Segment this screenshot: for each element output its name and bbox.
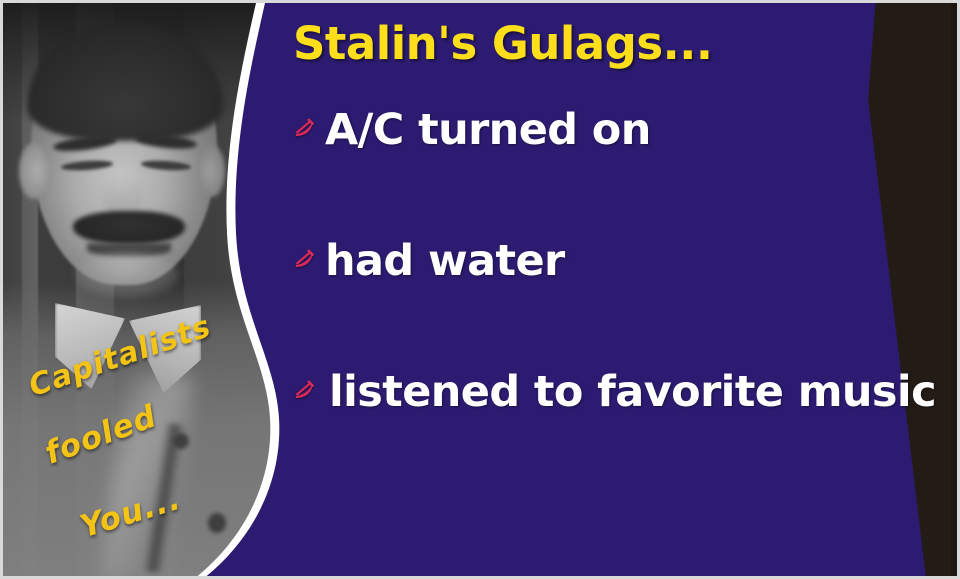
chin — [75, 253, 179, 297]
list-item-label: had water — [325, 236, 565, 286]
photo-artifact-a — [173, 433, 189, 449]
page-title: Stalin's Gulags... — [293, 17, 712, 70]
list-item-label: A/C turned on — [325, 105, 651, 155]
left-ear — [19, 143, 49, 199]
list-item: listened to favorite music — [285, 361, 925, 423]
mustache — [73, 211, 185, 245]
slide-content: Stalin's Gulags... A/C turned on — [285, 3, 957, 579]
photo-artifact-b — [208, 513, 226, 533]
stalin-portrait-photo — [3, 3, 293, 579]
hammer-and-sickle-icon — [285, 248, 325, 274]
bullet-list: A/C turned on had water — [285, 99, 925, 423]
photo-clip: Capitalists fooled You... — [3, 3, 293, 579]
list-item-label: listened to favorite music — [329, 367, 936, 417]
meme-slide: Capitalists fooled You... Stalin's Gulag… — [0, 0, 960, 579]
portrait-panel: Capitalists fooled You... — [3, 3, 293, 579]
list-item: A/C turned on — [285, 99, 925, 161]
right-ear — [199, 145, 225, 197]
hammer-and-sickle-icon — [285, 117, 325, 143]
hammer-and-sickle-icon — [285, 379, 325, 405]
list-item: had water — [285, 230, 925, 292]
